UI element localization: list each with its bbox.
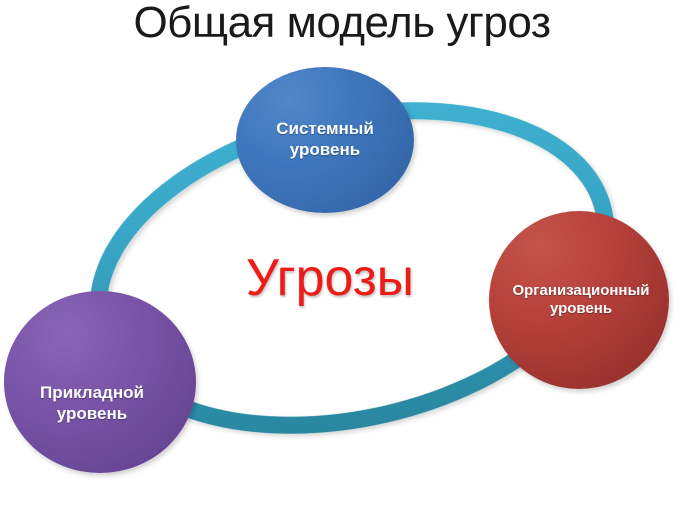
node-organizational-level-line1: Организационный (512, 282, 649, 299)
node-system-level-line1: Системный (276, 119, 374, 138)
node-system-level[interactable]: Системный уровень (236, 67, 414, 213)
node-organizational-level[interactable]: Организационный уровень (489, 211, 669, 389)
node-applied-level[interactable]: Прикладной уровень (4, 291, 196, 473)
node-organizational-level-label: Организационный уровень (512, 282, 649, 319)
node-applied-level-line2: уровень (57, 404, 127, 423)
node-organizational-level-line2: уровень (550, 300, 612, 317)
node-applied-level-label: Прикладной уровень (40, 383, 144, 424)
node-system-level-label: Системный уровень (276, 119, 374, 160)
slide-canvas: Общая модель угроз Системный уровень Орг (0, 0, 684, 522)
node-applied-level-line1: Прикладной (40, 383, 144, 402)
center-label-threats: Угрозы (180, 248, 480, 308)
node-system-level-line2: уровень (290, 140, 360, 159)
